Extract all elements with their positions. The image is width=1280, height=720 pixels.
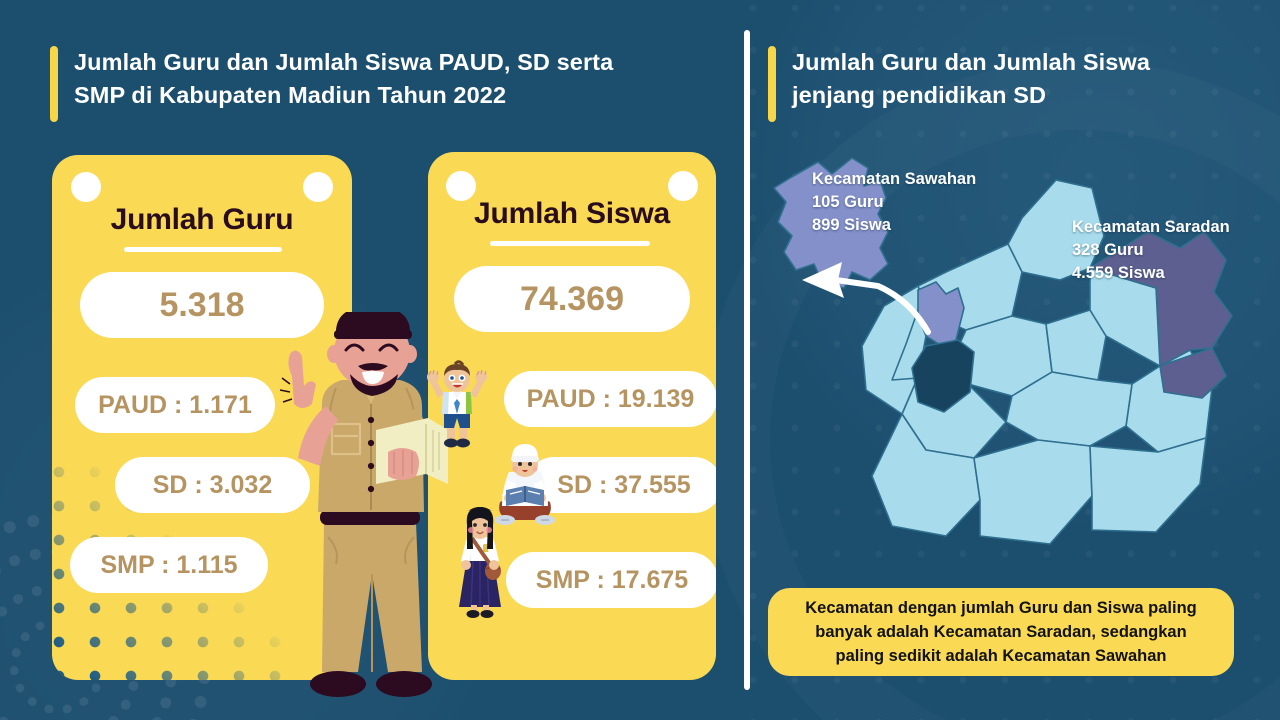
right-heading-text: Jumlah Guru dan Jumlah Siswa jenjang pen… [792, 46, 1150, 113]
map-caption-text: Kecamatan dengan jumlah Guru dan Siswa p… [805, 596, 1197, 668]
heading-accent-bar [768, 46, 776, 122]
guru-paud-pill: PAUD : 1.171 [75, 377, 275, 433]
vertical-divider [744, 30, 750, 690]
infographic-canvas: Jumlah Guru dan Jumlah Siswa PAUD, SD se… [0, 0, 1280, 720]
student-boy-illustration-icon [426, 358, 488, 450]
map-district-southeast [1090, 438, 1206, 532]
card-title-rule [124, 247, 282, 252]
card-title-siswa: Jumlah Siswa [428, 197, 716, 231]
madiun-regency-map: Kecamatan Sawahan 105 Guru 899 Siswa Kec… [760, 140, 1280, 570]
punch-hole-right-icon [303, 172, 333, 202]
map-label-saradan: Kecamatan Saradan 328 Guru 4.559 Siswa [1072, 216, 1230, 284]
siswa-smp-pill: SMP : 17.675 [506, 552, 716, 608]
heading-accent-bar [50, 46, 58, 122]
right-panel-heading: Jumlah Guru dan Jumlah Siswa jenjang pen… [768, 46, 1238, 122]
left-panel-heading: Jumlah Guru dan Jumlah Siswa PAUD, SD se… [50, 46, 710, 122]
punch-hole-left-icon [71, 172, 101, 202]
siswa-total-pill: 74.369 [454, 266, 690, 332]
card-title-guru: Jumlah Guru [52, 203, 352, 237]
student-girl-illustration-icon [452, 505, 508, 621]
left-heading-text: Jumlah Guru dan Jumlah Siswa PAUD, SD se… [74, 46, 613, 113]
map-label-sawahan: Kecamatan Sawahan 105 Guru 899 Siswa [812, 168, 976, 236]
guru-smp-pill: SMP : 1.115 [70, 537, 268, 593]
map-district-south-central [974, 440, 1092, 544]
map-caption-box: Kecamatan dengan jumlah Guru dan Siswa p… [768, 588, 1234, 676]
card-title-rule [490, 241, 650, 246]
siswa-paud-pill: PAUD : 19.139 [504, 371, 716, 427]
